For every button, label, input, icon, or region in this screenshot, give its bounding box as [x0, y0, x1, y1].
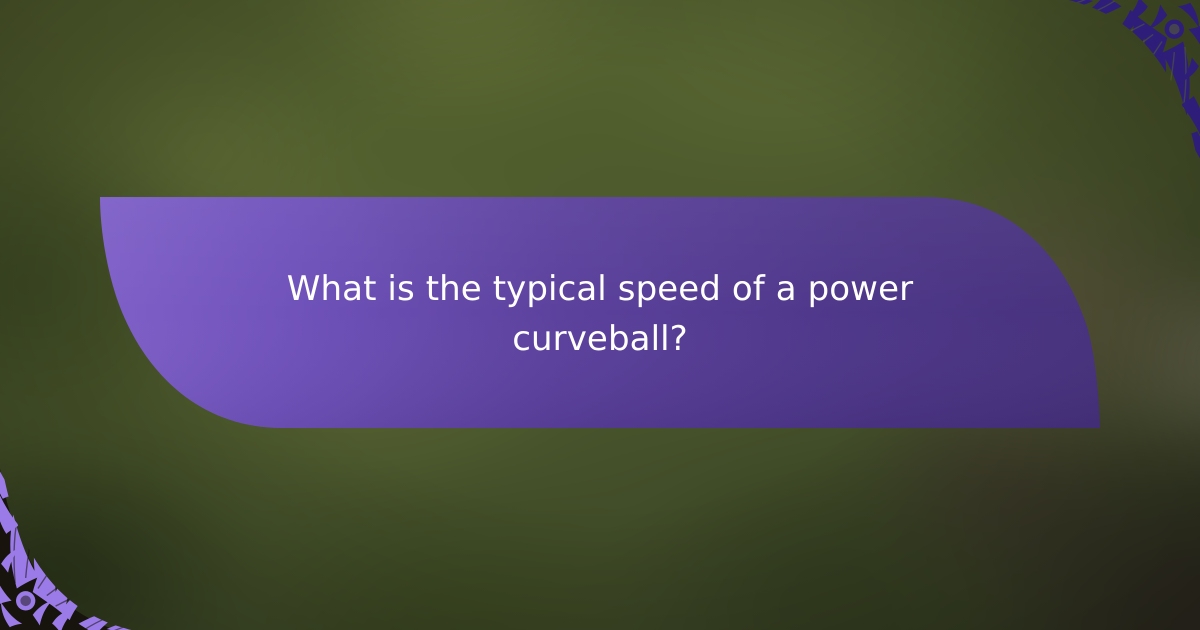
- question-line-2: curveball?: [220, 314, 980, 364]
- question-text: What is the typical speed of a power cur…: [220, 264, 980, 364]
- question-line-1: What is the typical speed of a power: [220, 264, 980, 314]
- corner-flourish-bottom-left-icon: [0, 460, 170, 630]
- corner-flourish-top-right-icon: [1030, 0, 1200, 170]
- question-card: What is the typical speed of a power cur…: [0, 0, 1200, 630]
